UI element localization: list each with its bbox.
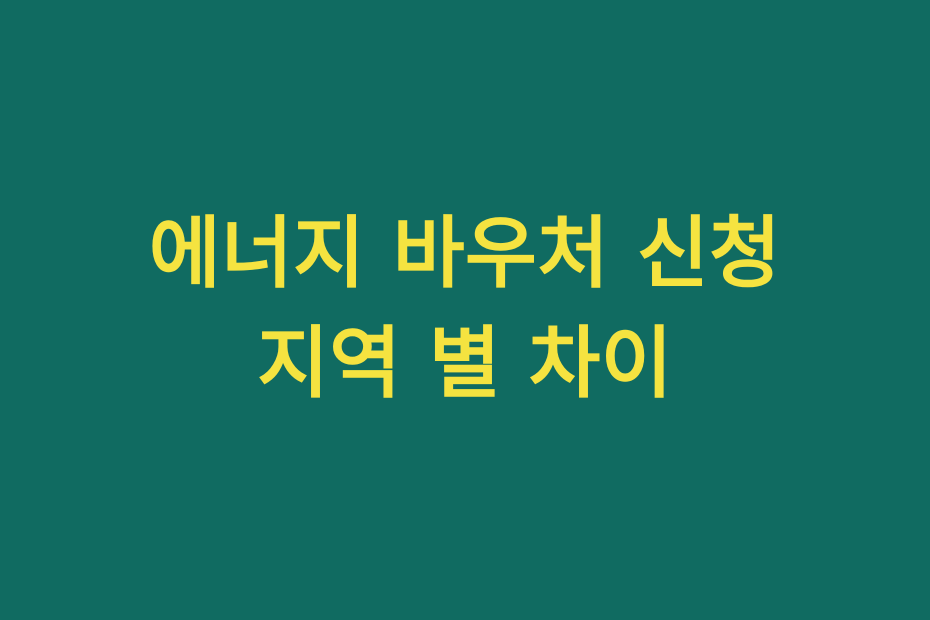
page-title: 에너지 바우처 신청 지역 별 차이 bbox=[70, 200, 860, 420]
poster-canvas: 에너지 바우처 신청 지역 별 차이 bbox=[0, 0, 930, 620]
title-block: 에너지 바우처 신청 지역 별 차이 bbox=[0, 200, 930, 420]
